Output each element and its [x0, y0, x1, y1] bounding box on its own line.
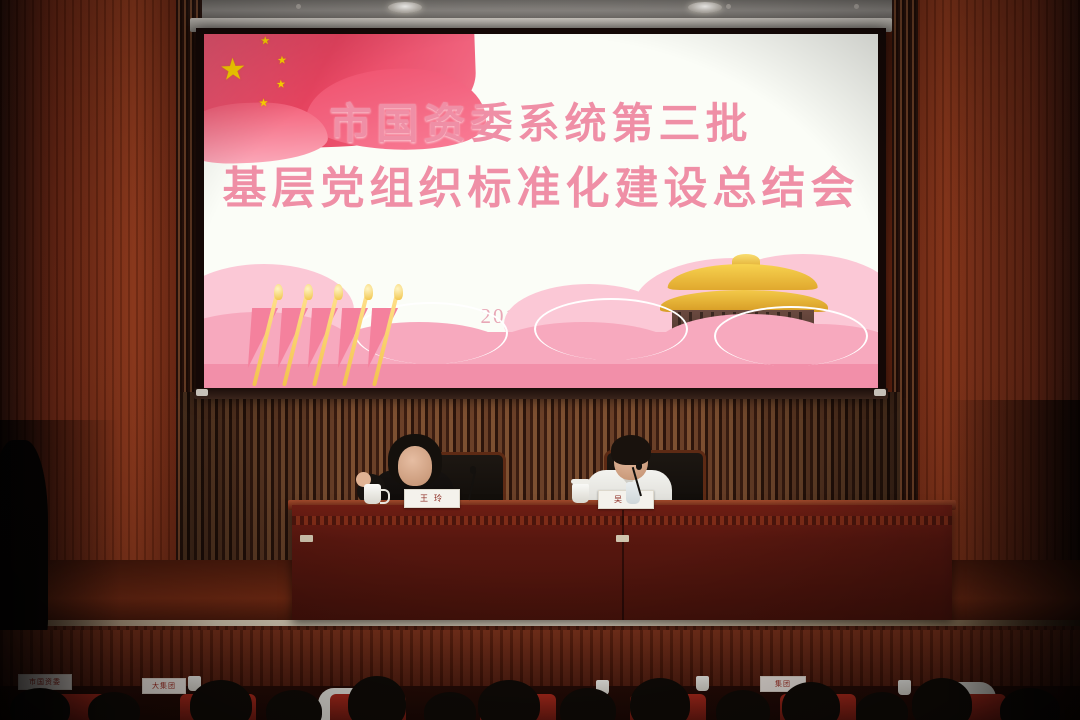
audience-head [478, 680, 540, 720]
audience-head [716, 690, 770, 720]
table-tag [616, 535, 629, 542]
slide-title: 市国资委系统第三批 基层党组织标准化建设总结会 [204, 94, 878, 221]
table-tag [300, 535, 313, 542]
mug-lid-icon [571, 479, 590, 484]
audience-mug [898, 680, 911, 695]
downlight-icon [388, 2, 422, 13]
audience-head [88, 692, 140, 720]
audience-head [1000, 688, 1060, 720]
flag-star-large: ★ [219, 55, 247, 86]
flag-star-small: ★ [260, 36, 270, 47]
ceiling-screw-icon [296, 4, 301, 9]
downlight-icon [688, 2, 722, 13]
slide-title-line2: 基层党组织标准化建设总结会 [204, 157, 878, 221]
mug [364, 484, 381, 504]
name-card-woman: 王 玲 [404, 489, 460, 508]
podium-table-seam [622, 510, 624, 620]
flag-star-small: ★ [276, 80, 286, 91]
audience-name-card: 大集团 [142, 678, 186, 694]
mug-handle-icon [380, 489, 390, 504]
microphone-head-icon [470, 466, 476, 474]
mug [572, 483, 589, 503]
ceiling-screw-icon [726, 4, 731, 9]
audience-head [190, 680, 252, 720]
audience-head [424, 692, 476, 720]
audience-head [782, 682, 840, 720]
slide-title-line1: 市国资委系统第三批 [204, 94, 878, 157]
cloud-outline [714, 306, 868, 366]
audience-head [856, 692, 908, 720]
ceiling-screw-icon [854, 4, 859, 9]
screen-bottom-bar [194, 388, 888, 399]
screen-knob-icon [196, 389, 208, 396]
foreground-silhouette [0, 470, 40, 510]
flag-star-small: ★ [277, 56, 287, 67]
screen-knob-icon [874, 389, 886, 396]
audience-area: 市国资委 大集团 集团 [0, 630, 1080, 720]
audience-head [10, 688, 70, 720]
cloud-outline [534, 298, 688, 360]
conference-photo: ★ ★ ★ ★ ★ 市国资委系统第三批 基层党组织标准化建设总结会 2018年1… [0, 0, 1080, 720]
audience-head [266, 690, 322, 720]
audience-mug [696, 676, 709, 691]
banner-flags-group [244, 260, 464, 390]
presentation-slide: ★ ★ ★ ★ ★ 市国资委系统第三批 基层党组织标准化建设总结会 2018年1… [204, 34, 878, 390]
microphone-head-icon [636, 462, 642, 470]
